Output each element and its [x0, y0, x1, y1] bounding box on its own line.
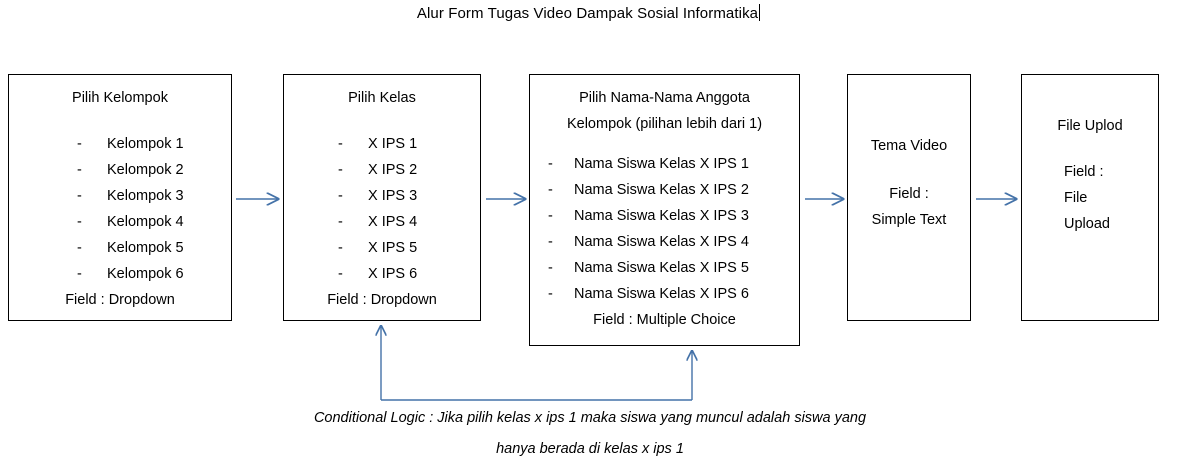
- list-item-label: Nama Siswa Kelas X IPS 1: [574, 156, 749, 172]
- list-item: -X IPS 1: [338, 131, 480, 157]
- bullet-dash: -: [338, 157, 368, 183]
- node3-header: Pilih Nama-Nama Anggota Kelompok (piliha…: [530, 85, 799, 137]
- list-item: -X IPS 3: [338, 183, 480, 209]
- bullet-dash: -: [338, 131, 368, 157]
- list-item-label: Nama Siswa Kelas X IPS 2: [574, 182, 749, 198]
- node1-header: Pilih Kelompok: [9, 85, 231, 111]
- diagram-title-text: Alur Form Tugas Video Dampak Sosial Info…: [417, 5, 758, 22]
- bullet-dash: -: [77, 261, 107, 287]
- node-pilih-kelas[interactable]: Pilih Kelas -X IPS 1 -X IPS 2 -X IPS 3 -…: [283, 74, 481, 321]
- node4-field-value: Simple Text: [848, 207, 970, 233]
- list-item-label: X IPS 1: [368, 136, 417, 152]
- bullet-dash: -: [77, 235, 107, 261]
- list-item-label: Nama Siswa Kelas X IPS 6: [574, 286, 749, 302]
- node1-field-type: Field : Dropdown: [9, 287, 231, 313]
- list-item: -X IPS 2: [338, 157, 480, 183]
- list-item: -Kelompok 1: [77, 131, 231, 157]
- conditional-logic-caption: Conditional Logic : Jika pilih kelas x i…: [180, 403, 1000, 465]
- node4-field-label: Field :: [848, 181, 970, 207]
- bullet-dash: -: [338, 261, 368, 287]
- list-item-label: X IPS 2: [368, 162, 417, 178]
- list-item-label: Nama Siswa Kelas X IPS 5: [574, 260, 749, 276]
- list-item-label: Kelompok 1: [107, 136, 184, 152]
- list-item: -Kelompok 4: [77, 209, 231, 235]
- list-item: -Nama Siswa Kelas X IPS 3: [548, 203, 799, 229]
- node3-header-line1: Pilih Nama-Nama Anggota: [530, 85, 799, 111]
- list-item-label: Kelompok 6: [107, 266, 184, 282]
- list-item-label: Kelompok 5: [107, 240, 184, 256]
- bullet-dash: -: [548, 229, 574, 255]
- list-item: -Kelompok 2: [77, 157, 231, 183]
- node3-field-type: Field : Multiple Choice: [530, 307, 799, 333]
- bullet-dash: -: [338, 235, 368, 261]
- list-item: -X IPS 5: [338, 235, 480, 261]
- bullet-dash: -: [338, 183, 368, 209]
- list-item: -X IPS 6: [338, 261, 480, 287]
- caption-line2: hanya berada di kelas x ips 1: [180, 434, 1000, 465]
- node5-field-label: Field :: [1064, 159, 1158, 185]
- bullet-dash: -: [548, 177, 574, 203]
- list-item-label: X IPS 6: [368, 266, 417, 282]
- node3-header-line2: Kelompok (pilihan lebih dari 1): [530, 111, 799, 137]
- node2-field-type: Field : Dropdown: [284, 287, 480, 313]
- list-item-label: X IPS 5: [368, 240, 417, 256]
- bullet-dash: -: [77, 157, 107, 183]
- list-item: -Nama Siswa Kelas X IPS 5: [548, 255, 799, 281]
- list-item: -Nama Siswa Kelas X IPS 1: [548, 151, 799, 177]
- diagram-title: Alur Form Tugas Video Dampak Sosial Info…: [0, 4, 1177, 24]
- list-item-label: Nama Siswa Kelas X IPS 3: [574, 208, 749, 224]
- list-item-label: Kelompok 3: [107, 188, 184, 204]
- list-item-label: Nama Siswa Kelas X IPS 4: [574, 234, 749, 250]
- list-item: -Nama Siswa Kelas X IPS 6: [548, 281, 799, 307]
- list-item: -Kelompok 3: [77, 183, 231, 209]
- text-cursor: [759, 4, 760, 21]
- node5-field-block: Field : File Upload: [1022, 159, 1158, 237]
- node-pilih-kelompok[interactable]: Pilih Kelompok -Kelompok 1 -Kelompok 2 -…: [8, 74, 232, 321]
- list-item-label: Kelompok 4: [107, 214, 184, 230]
- bullet-dash: -: [548, 281, 574, 307]
- bullet-dash: -: [338, 209, 368, 235]
- node-file-upload[interactable]: File Uplod Field : File Upload: [1021, 74, 1159, 321]
- node-pilih-anggota-kelompok[interactable]: Pilih Nama-Nama Anggota Kelompok (piliha…: [529, 74, 800, 346]
- node4-header: Tema Video: [848, 133, 970, 159]
- list-item-label: X IPS 3: [368, 188, 417, 204]
- list-item: -X IPS 4: [338, 209, 480, 235]
- bullet-dash: -: [77, 131, 107, 157]
- node1-item-list: -Kelompok 1 -Kelompok 2 -Kelompok 3 -Kel…: [9, 131, 231, 287]
- bullet-dash: -: [77, 209, 107, 235]
- node5-field-value-line2: Upload: [1064, 211, 1158, 237]
- bullet-dash: -: [548, 203, 574, 229]
- list-item-label: Kelompok 2: [107, 162, 184, 178]
- node5-field-value-line1: File: [1064, 185, 1158, 211]
- list-item: -Nama Siswa Kelas X IPS 4: [548, 229, 799, 255]
- list-item: -Kelompok 6: [77, 261, 231, 287]
- node2-header: Pilih Kelas: [284, 85, 480, 111]
- node2-item-list: -X IPS 1 -X IPS 2 -X IPS 3 -X IPS 4 -X I…: [284, 131, 480, 287]
- list-item: -Kelompok 5: [77, 235, 231, 261]
- node5-header: File Uplod: [1022, 113, 1158, 139]
- diagram-canvas: Alur Form Tugas Video Dampak Sosial Info…: [0, 0, 1177, 460]
- bullet-dash: -: [548, 151, 574, 177]
- list-item: -Nama Siswa Kelas X IPS 2: [548, 177, 799, 203]
- list-item-label: X IPS 4: [368, 214, 417, 230]
- bullet-dash: -: [548, 255, 574, 281]
- caption-line1: Conditional Logic : Jika pilih kelas x i…: [180, 403, 1000, 434]
- node-tema-video[interactable]: Tema Video Field : Simple Text: [847, 74, 971, 321]
- node3-item-list: -Nama Siswa Kelas X IPS 1 -Nama Siswa Ke…: [530, 151, 799, 307]
- bullet-dash: -: [77, 183, 107, 209]
